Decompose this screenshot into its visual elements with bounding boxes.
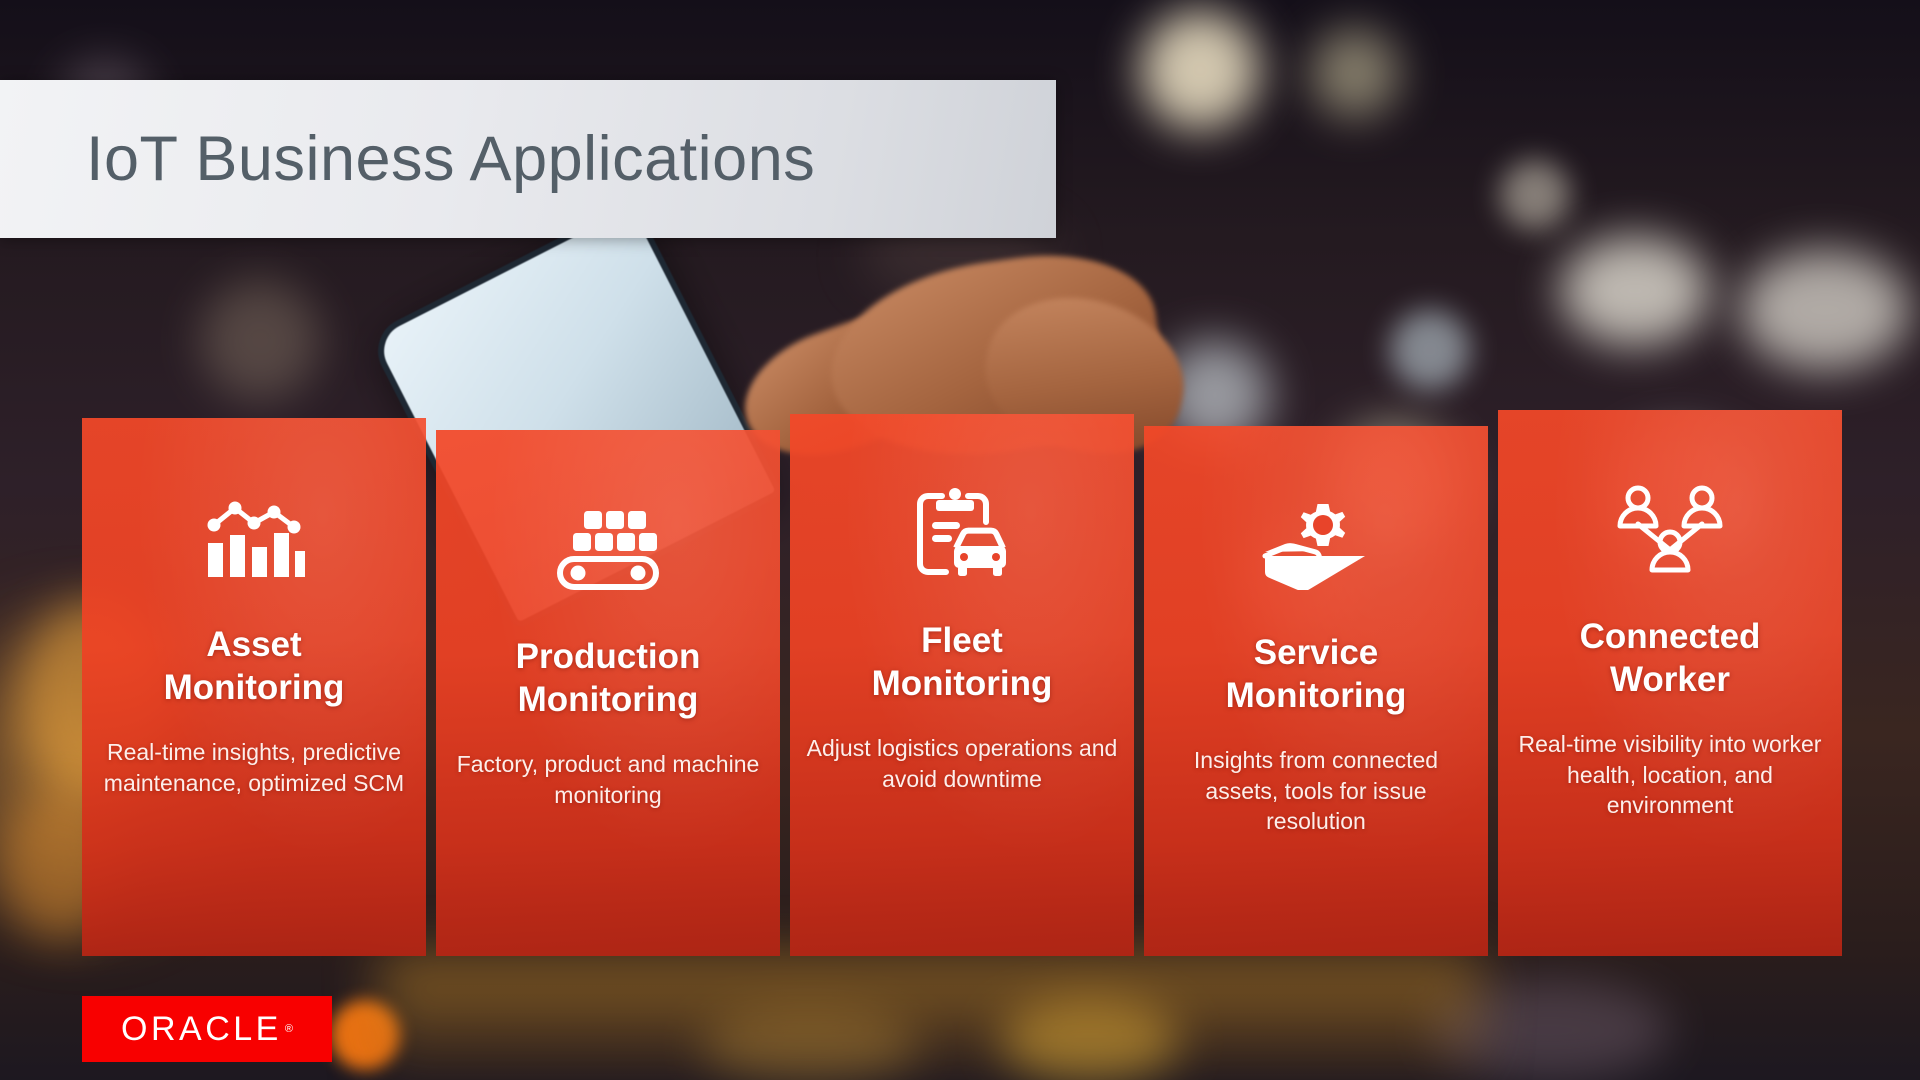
conveyor-belt-boxes-icon: [552, 498, 664, 602]
card-title-line2: Monitoring: [872, 664, 1053, 703]
card-connected-worker[interactable]: Connected Worker Real-time visibility in…: [1498, 410, 1842, 956]
card-description: Insights from connected assets, tools fo…: [1144, 745, 1488, 836]
card-title: Service Monitoring: [1216, 632, 1417, 717]
card-title-line1: Production: [516, 637, 701, 676]
page-title: IoT Business Applications: [86, 123, 815, 195]
oracle-wordmark: ORACLE: [121, 1010, 282, 1049]
bokeh-light: [1310, 28, 1400, 118]
bokeh-light: [1390, 310, 1470, 390]
card-title: Connected Worker: [1570, 616, 1771, 701]
clipboard-vehicle-icon: [912, 482, 1012, 586]
card-title-line2: Monitoring: [518, 680, 699, 719]
card-title-line1: Service: [1254, 633, 1379, 672]
oracle-logo: ORACLE®: [82, 996, 332, 1062]
feature-cards-row: Asset Monitoring Real-time insights, pre…: [82, 418, 1842, 966]
card-title: Fleet Monitoring: [862, 620, 1063, 705]
card-title: Production Monitoring: [506, 636, 711, 721]
desk-reflection-glow: [380, 955, 1480, 1080]
bokeh-light: [200, 280, 320, 400]
card-title-line2: Monitoring: [164, 668, 345, 707]
card-title-line2: Monitoring: [1226, 676, 1407, 715]
card-description: Real-time visibility into worker health,…: [1498, 729, 1842, 820]
card-asset-monitoring[interactable]: Asset Monitoring Real-time insights, pre…: [82, 418, 426, 956]
card-title: Asset Monitoring: [154, 624, 355, 709]
bar-chart-analytics-icon: [202, 486, 306, 590]
card-description: Factory, product and machine monitoring: [436, 749, 780, 810]
title-banner: IoT Business Applications: [0, 80, 1056, 238]
bokeh-light: [1140, 10, 1260, 130]
card-service-monitoring[interactable]: Service Monitoring Insights from connect…: [1144, 426, 1488, 956]
card-description: Real-time insights, predictive maintenan…: [82, 737, 426, 798]
slide-canvas: IoT Business Applications: [0, 0, 1920, 1080]
card-title-line1: Asset: [206, 625, 301, 664]
card-title-line1: Fleet: [921, 621, 1003, 660]
card-fleet-monitoring[interactable]: Fleet Monitoring Adjust logistics operat…: [790, 414, 1134, 956]
oracle-trademark-symbol: ®: [285, 1023, 293, 1035]
connected-people-network-icon: [1612, 478, 1728, 582]
bokeh-light: [1560, 236, 1710, 346]
card-description: Adjust logistics operations and avoid do…: [790, 733, 1134, 794]
card-title-line1: Connected: [1580, 617, 1761, 656]
bokeh-light: [1500, 160, 1570, 230]
card-production-monitoring[interactable]: Production Monitoring Factory, product a…: [436, 430, 780, 956]
card-title-line2: Worker: [1610, 660, 1730, 699]
hand-holding-gear-icon: [1261, 494, 1371, 598]
bokeh-light: [1740, 250, 1910, 370]
